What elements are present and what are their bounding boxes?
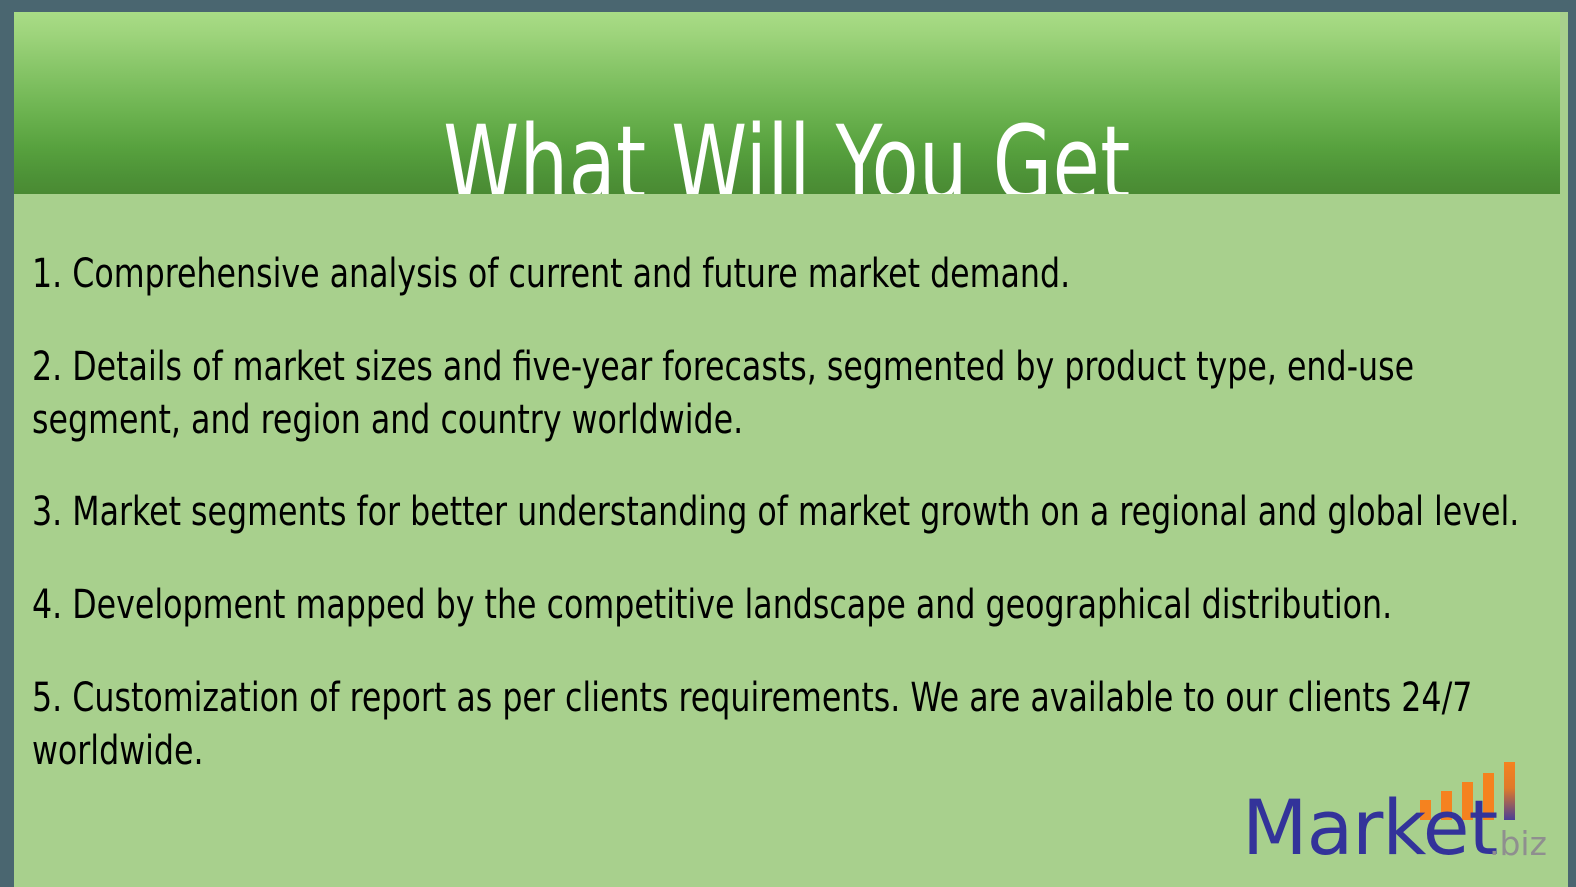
slide-title: What Will You Get — [153, 110, 1421, 194]
logo-wordmark: Market — [1242, 790, 1497, 866]
market-biz-logo: Market .biz — [1242, 770, 1562, 882]
list-item: 3. Market segments for better understand… — [32, 486, 1540, 539]
list-item: 2. Details of market sizes and five-year… — [32, 341, 1540, 447]
logo-bar-5 — [1504, 762, 1515, 820]
list-item: 5. Customization of report as per client… — [32, 672, 1540, 778]
presentation-slide: 1. Comprehensive analysis of current and… — [0, 0, 1576, 887]
content-list: 1. Comprehensive analysis of current and… — [32, 208, 1548, 796]
list-item: 1. Comprehensive analysis of current and… — [32, 248, 1540, 301]
logo-tld: .biz — [1489, 827, 1547, 860]
slide-header-band: What Will You Get — [14, 12, 1560, 194]
list-item: 4. Development mapped by the competitive… — [32, 579, 1540, 632]
